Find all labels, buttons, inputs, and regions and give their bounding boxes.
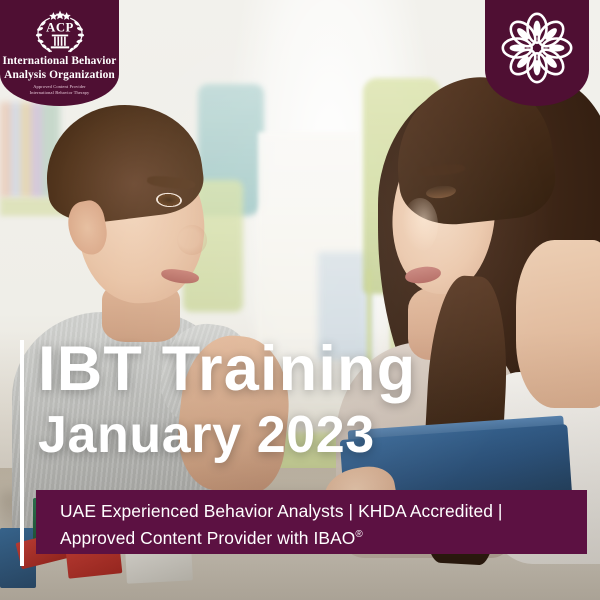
svg-text:ACP: ACP xyxy=(46,21,74,35)
headline-accent-rule xyxy=(20,340,24,566)
acp-subtitle-line-2: International Behavior Therapy xyxy=(0,90,119,95)
photo-woman-nose xyxy=(402,198,438,252)
acp-title-line-1: International Behavior xyxy=(0,55,119,68)
acp-logo-badge: ACP International Behavior Analysis Orga… xyxy=(0,0,119,106)
credentials-line-2: Approved Content Provider with IBAO® xyxy=(60,523,587,550)
acp-title-line-2: Analysis Organization xyxy=(0,69,119,82)
acp-laurel-wreath-column-icon: ACP xyxy=(29,8,91,54)
partner-logo-badge xyxy=(485,0,589,106)
headline-title: IBT Training xyxy=(38,334,578,404)
credentials-banner: UAE Experienced Behavior Analysts | KHDA… xyxy=(36,490,587,554)
floral-rosette-icon xyxy=(499,10,575,86)
headline-subtitle: January 2023 xyxy=(38,406,578,464)
poster-canvas: ACP International Behavior Analysis Orga… xyxy=(0,0,600,600)
registered-mark: ® xyxy=(355,529,362,540)
headline-block: IBT Training January 2023 xyxy=(38,334,578,464)
photo-boy-nose xyxy=(177,225,207,255)
credentials-line-2-text: Approved Content Provider with IBAO xyxy=(60,528,355,548)
credentials-line-1: UAE Experienced Behavior Analysts | KHDA… xyxy=(60,499,587,523)
